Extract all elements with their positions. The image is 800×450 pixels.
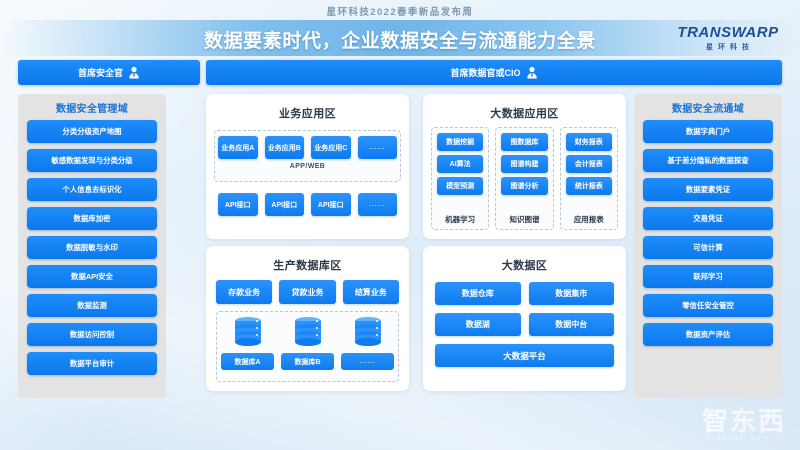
bigdata-col2-item0[interactable]: 财务报表 bbox=[566, 133, 612, 151]
database-label-1: 数据库B bbox=[281, 353, 334, 370]
bigdata-zone-grid: 数据仓库 数据集市 数据湖 数据中台 大数据平台 bbox=[435, 282, 614, 375]
right-item-4[interactable]: 可信计算 bbox=[643, 236, 773, 259]
left-item-2[interactable]: 个人信息去标识化 bbox=[27, 178, 157, 201]
logo-subtext: 星环科技 bbox=[668, 42, 788, 52]
api-row: API接口 API接口 API接口 ...... bbox=[218, 193, 397, 216]
role-cso-label: 首席安全官 bbox=[78, 66, 123, 79]
bigdata-col2-item1[interactable]: 会计报表 bbox=[566, 155, 612, 173]
panel-data-security-management: 数据安全管理域 分类分级资产地图 敏感数据发现与分类分级 个人信息去标识化 数据… bbox=[18, 94, 166, 398]
bigdata-app-columns: 数据挖掘 AI算法 模型预测 机器学习 图数据库 图谱构建 图谱分析 知识图谱 … bbox=[431, 127, 618, 230]
production-db-title: 生产数据库区 bbox=[206, 246, 409, 273]
production-business-row: 存款业务 贷款业务 结算业务 bbox=[216, 280, 399, 304]
right-item-1[interactable]: 基于差分隐私的数据探查 bbox=[643, 149, 773, 172]
bigdata-col-application-report: 财务报表 会计报表 统计报表 应用报表 bbox=[560, 127, 618, 230]
database-grid: 数据库A 数据库B bbox=[221, 316, 394, 378]
watermark-sub: zhidx.com bbox=[702, 436, 786, 442]
bigdata-zone-platform[interactable]: 大数据平台 bbox=[435, 344, 614, 367]
business-app-1[interactable]: 业务应用B bbox=[265, 136, 305, 159]
transwarp-logo: TRANSWARP 星环科技 bbox=[668, 24, 788, 52]
bigdata-col0-item0[interactable]: 数据挖掘 bbox=[437, 133, 483, 151]
business-app-2[interactable]: 业务应用C bbox=[311, 136, 351, 159]
api-interface-2[interactable]: API接口 bbox=[311, 193, 351, 216]
logo-wordmark: TRANSWARP bbox=[668, 24, 788, 41]
business-app-row: 业务应用A 业务应用B 业务应用C ...... bbox=[218, 136, 397, 159]
role-bar-cso[interactable]: 首席安全官 bbox=[18, 60, 200, 85]
bigdata-col0-item2[interactable]: 模型预测 bbox=[437, 177, 483, 195]
bigdata-col2-item2[interactable]: 统计报表 bbox=[566, 177, 612, 195]
production-business-2[interactable]: 结算业务 bbox=[343, 280, 399, 304]
database-cell-1[interactable]: 数据库B bbox=[281, 316, 334, 378]
database-icon bbox=[352, 316, 384, 350]
bigdata-zone-lake[interactable]: 数据湖 bbox=[435, 313, 521, 336]
database-label-more: ...... bbox=[341, 353, 394, 370]
card-bigdata-zone: 大数据区 数据仓库 数据集市 数据湖 数据中台 大数据平台 bbox=[423, 246, 626, 391]
bigdata-zone-row1: 数据仓库 数据集市 bbox=[435, 282, 614, 305]
left-item-7[interactable]: 数据访问控制 bbox=[27, 323, 157, 346]
bigdata-col-machine-learning: 数据挖掘 AI算法 模型预测 机器学习 bbox=[431, 127, 489, 230]
app-web-label: APP/WEB bbox=[214, 163, 401, 170]
person-icon bbox=[128, 66, 140, 79]
production-business-1[interactable]: 贷款业务 bbox=[279, 280, 335, 304]
left-panel-title: 数据安全管理域 bbox=[27, 100, 157, 115]
watermark: 智东西 zhidx.com bbox=[702, 408, 786, 442]
bigdata-col1-item0[interactable]: 图数据库 bbox=[501, 133, 547, 151]
bigdata-zone-title: 大数据区 bbox=[423, 246, 626, 273]
right-item-6[interactable]: 零信任安全管控 bbox=[643, 294, 773, 317]
api-interface-1[interactable]: API接口 bbox=[265, 193, 305, 216]
watermark-main: 智东西 bbox=[702, 408, 786, 434]
bigdata-col0-item1[interactable]: AI算法 bbox=[437, 155, 483, 173]
bigdata-zone-row2: 数据湖 数据中台 bbox=[435, 313, 614, 336]
database-icon bbox=[232, 316, 264, 350]
left-item-6[interactable]: 数据监测 bbox=[27, 294, 157, 317]
bigdata-col2-footer: 应用报表 bbox=[566, 214, 612, 229]
bigdata-zone-mart[interactable]: 数据集市 bbox=[529, 282, 615, 305]
bigdata-zone-row3: 大数据平台 bbox=[435, 344, 614, 367]
left-item-5[interactable]: 数据API安全 bbox=[27, 265, 157, 288]
card-bigdata-application: 大数据应用区 数据挖掘 AI算法 模型预测 机器学习 图数据库 图谱构建 图谱分… bbox=[423, 94, 626, 239]
center-diagram: 业务应用区 业务应用A 业务应用B 业务应用C ...... APP/WEB A… bbox=[206, 94, 626, 398]
card-production-database: 生产数据库区 存款业务 贷款业务 结算业务 bbox=[206, 246, 409, 391]
database-label-0: 数据库A bbox=[221, 353, 274, 370]
right-item-7[interactable]: 数据资产评估 bbox=[643, 323, 773, 346]
left-item-4[interactable]: 数据脱敏与水印 bbox=[27, 236, 157, 259]
bigdata-col1-item1[interactable]: 图谱构建 bbox=[501, 155, 547, 173]
left-item-0[interactable]: 分类分级资产地图 bbox=[27, 120, 157, 143]
panel-data-security-circulation: 数据安全流通域 数据字典门户 基于差分隐私的数据探查 数据要素凭证 交易凭证 可… bbox=[634, 94, 782, 398]
business-app-0[interactable]: 业务应用A bbox=[218, 136, 258, 159]
left-item-8[interactable]: 数据平台审计 bbox=[27, 352, 157, 375]
database-cell-0[interactable]: 数据库A bbox=[221, 316, 274, 378]
database-icon bbox=[292, 316, 324, 350]
production-business-0[interactable]: 存款业务 bbox=[216, 280, 272, 304]
bigdata-app-title: 大数据应用区 bbox=[423, 94, 626, 121]
left-item-3[interactable]: 数据库加密 bbox=[27, 207, 157, 230]
person-icon bbox=[526, 66, 538, 79]
slide-header: 星环科技2022春季新品发布周 数据要素时代，企业数据安全与流通能力全景 TRA… bbox=[0, 0, 800, 56]
business-app-title: 业务应用区 bbox=[206, 94, 409, 121]
right-item-2[interactable]: 数据要素凭证 bbox=[643, 178, 773, 201]
business-app-more[interactable]: ...... bbox=[358, 136, 398, 159]
bigdata-zone-midplatform[interactable]: 数据中台 bbox=[529, 313, 615, 336]
right-item-0[interactable]: 数据字典门户 bbox=[643, 120, 773, 143]
right-item-3[interactable]: 交易凭证 bbox=[643, 207, 773, 230]
role-bar-cio[interactable]: 首席数据官或CIO bbox=[206, 60, 782, 85]
right-panel-title: 数据安全流通域 bbox=[643, 100, 773, 115]
bigdata-col-knowledge-graph: 图数据库 图谱构建 图谱分析 知识图谱 bbox=[495, 127, 553, 230]
left-item-1[interactable]: 敏感数据发现与分类分级 bbox=[27, 149, 157, 172]
bigdata-zone-warehouse[interactable]: 数据仓库 bbox=[435, 282, 521, 305]
role-cio-label: 首席数据官或CIO bbox=[450, 66, 520, 79]
event-subtitle: 星环科技2022春季新品发布周 bbox=[0, 4, 800, 18]
api-interface-more[interactable]: ...... bbox=[358, 193, 398, 216]
right-item-5[interactable]: 联邦学习 bbox=[643, 265, 773, 288]
bigdata-col0-footer: 机器学习 bbox=[437, 214, 483, 229]
card-business-application: 业务应用区 业务应用A 业务应用B 业务应用C ...... APP/WEB A… bbox=[206, 94, 409, 239]
bigdata-col1-footer: 知识图谱 bbox=[501, 214, 547, 229]
database-cell-2[interactable]: ...... bbox=[341, 316, 394, 378]
bigdata-col1-item2[interactable]: 图谱分析 bbox=[501, 177, 547, 195]
api-interface-0[interactable]: API接口 bbox=[218, 193, 258, 216]
